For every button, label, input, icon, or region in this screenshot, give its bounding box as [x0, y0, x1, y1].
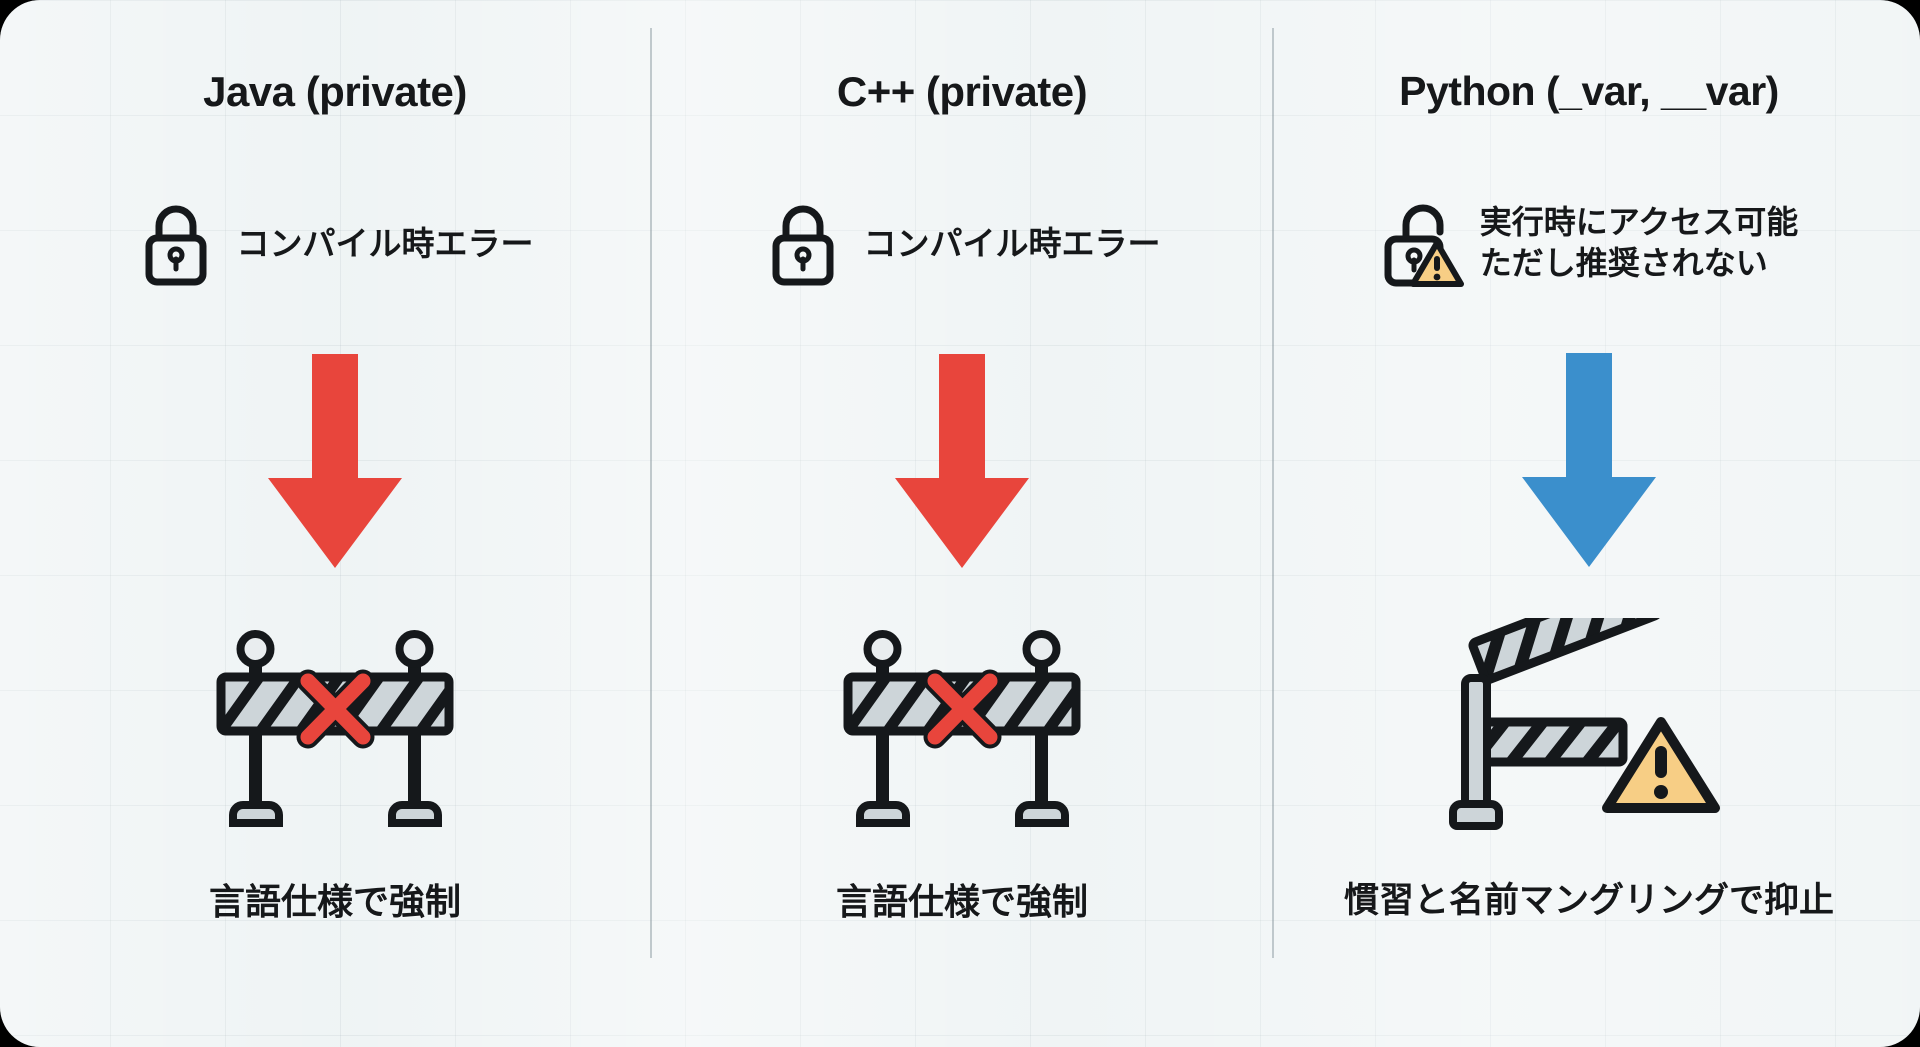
- status-row-python: 実行時にアクセス可能 ただし推奨されない: [1380, 199, 1798, 287]
- column-java: Java (private) コンパイル時エラー: [20, 0, 650, 1047]
- status-line-2: ただし推奨されない: [1480, 243, 1798, 284]
- lock-closed-icon: [137, 200, 215, 288]
- lock-open-icon: [1380, 199, 1458, 287]
- status-text-python: 実行時にアクセス可能 ただし推奨されない: [1480, 202, 1798, 284]
- status-text-java: コンパイル時エラー: [237, 223, 534, 265]
- column-title-python: Python (_var, __var): [1399, 68, 1779, 115]
- infographic-canvas: Java (private) コンパイル時エラー: [0, 0, 1920, 1047]
- barrier-raised-icon-python: [1439, 618, 1739, 838]
- arrow-down-icon-python: [1514, 345, 1664, 580]
- column-title-java: Java (private): [203, 68, 467, 116]
- column-title-cpp: C++ (private): [837, 68, 1087, 116]
- column-python: Python (_var, __var) 実行時: [1274, 0, 1904, 1047]
- column-cpp: C++ (private) コンパイル時エラー: [652, 0, 1272, 1047]
- lock-closed-icon: [764, 200, 842, 288]
- caption-python: 慣習と名前マングリングで抑止: [1344, 872, 1834, 923]
- arrow-down-icon-java: [260, 346, 410, 581]
- caption-java: 言語仕様で強制: [209, 873, 461, 925]
- status-row-java: コンパイル時エラー: [137, 200, 534, 288]
- status-row-cpp: コンパイル時エラー: [764, 200, 1161, 288]
- caption-cpp: 言語仕様で強制: [836, 873, 1088, 925]
- barrier-blocked-icon-cpp: [822, 619, 1102, 839]
- status-text-cpp: コンパイル時エラー: [864, 223, 1161, 265]
- arrow-down-icon-cpp: [887, 346, 1037, 581]
- barrier-blocked-icon-java: [195, 619, 475, 839]
- warning-triangle-icon: [1410, 239, 1464, 289]
- status-line-1: 実行時にアクセス可能: [1480, 202, 1798, 243]
